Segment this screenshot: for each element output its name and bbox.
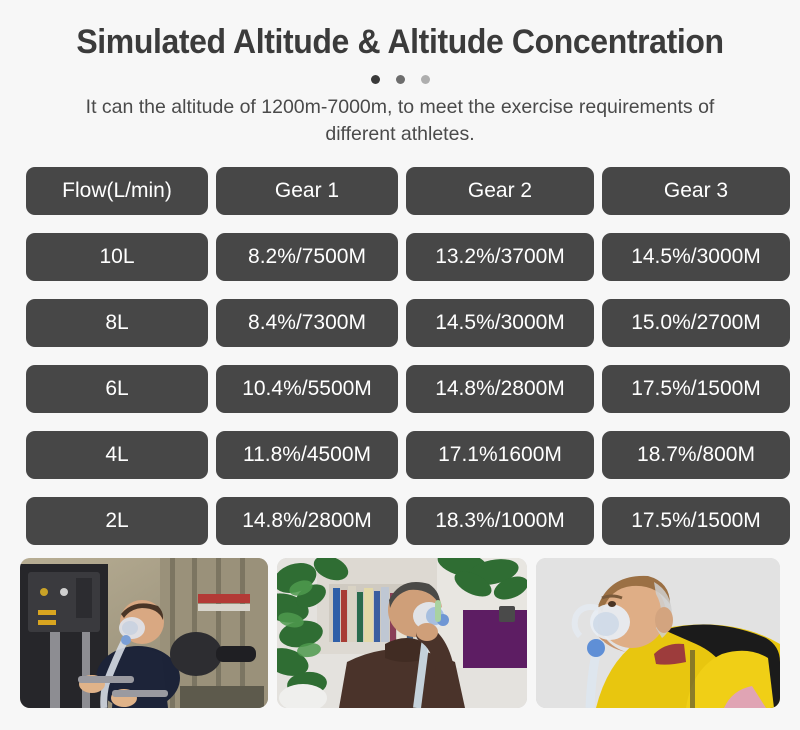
photo-strip	[20, 558, 780, 708]
table-row: 2L 14.8%/2800M 18.3%/1000M 17.5%/1500M	[26, 497, 774, 545]
table-row: 10L 8.2%/7500M 13.2%/3700M 14.5%/3000M	[26, 233, 774, 281]
header: Simulated Altitude & Altitude Concentrat…	[0, 0, 800, 148]
cell-gear1: 11.8%/4500M	[216, 431, 398, 479]
column-header-gear2: Gear 2	[406, 167, 594, 215]
cell-gear3: 17.5%/1500M	[602, 365, 790, 413]
dot-2-icon	[396, 75, 405, 84]
page-title: Simulated Altitude & Altitude Concentrat…	[24, 24, 776, 61]
cell-gear2: 14.5%/3000M	[406, 299, 594, 347]
cell-gear3: 17.5%/1500M	[602, 497, 790, 545]
dot-3-icon	[421, 75, 430, 84]
photo-gym-athlete-mask	[20, 558, 268, 708]
cell-flow: 4L	[26, 431, 208, 479]
page-subtitle: It can the altitude of 1200m-7000m, to m…	[80, 94, 720, 148]
cell-flow: 10L	[26, 233, 208, 281]
column-header-gear1: Gear 1	[216, 167, 398, 215]
cell-flow: 6L	[26, 365, 208, 413]
column-header-gear3: Gear 3	[602, 167, 790, 215]
photo-cyclist-mask	[536, 558, 780, 708]
table-header-row: Flow(L/min) Gear 1 Gear 2 Gear 3	[26, 167, 774, 215]
cell-gear1: 8.4%/7300M	[216, 299, 398, 347]
cell-gear2: 17.1%1600M	[406, 431, 594, 479]
table-row: 4L 11.8%/4500M 17.1%1600M 18.7%/800M	[26, 431, 774, 479]
dot-separator	[0, 74, 800, 84]
table-row: 6L 10.4%/5500M 14.8%/2800M 17.5%/1500M	[26, 365, 774, 413]
cell-gear2: 18.3%/1000M	[406, 497, 594, 545]
cell-flow: 8L	[26, 299, 208, 347]
cell-gear3: 14.5%/3000M	[602, 233, 790, 281]
cell-gear3: 15.0%/2700M	[602, 299, 790, 347]
photo-indoor-user-mask	[277, 558, 527, 708]
cell-gear3: 18.7%/800M	[602, 431, 790, 479]
cell-flow: 2L	[26, 497, 208, 545]
cell-gear1: 10.4%/5500M	[216, 365, 398, 413]
table-row: 8L 8.4%/7300M 14.5%/3000M 15.0%/2700M	[26, 299, 774, 347]
altitude-concentration-table: Flow(L/min) Gear 1 Gear 2 Gear 3 10L 8.2…	[0, 167, 800, 545]
cell-gear1: 14.8%/2800M	[216, 497, 398, 545]
dot-1-icon	[371, 75, 380, 84]
cell-gear2: 13.2%/3700M	[406, 233, 594, 281]
altitude-concentration-panel: Simulated Altitude & Altitude Concentrat…	[0, 0, 800, 730]
cell-gear1: 8.2%/7500M	[216, 233, 398, 281]
column-header-flow: Flow(L/min)	[26, 167, 208, 215]
cell-gear2: 14.8%/2800M	[406, 365, 594, 413]
